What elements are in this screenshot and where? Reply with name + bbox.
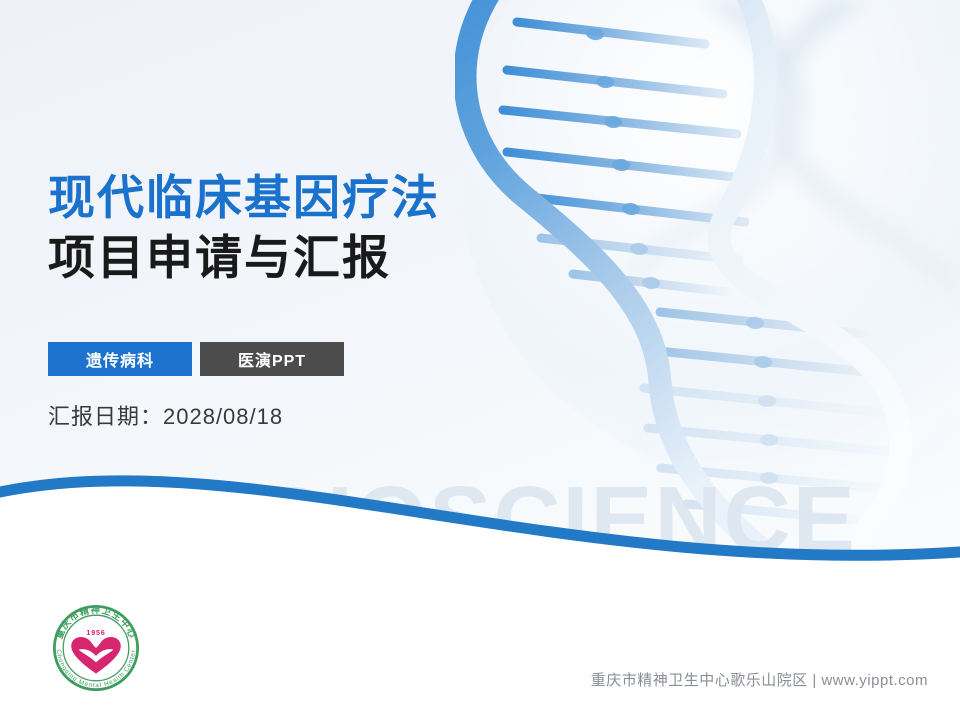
presentation-slide: BIOSCIENCE 现代临床基因疗法 项目申请与汇报 遗传病科 医演PPT 汇…: [0, 0, 960, 720]
tag-group: 遗传病科 医演PPT: [48, 342, 344, 376]
logo-year: 1956: [86, 628, 105, 637]
title-line-1: 现代临床基因疗法: [48, 168, 440, 228]
title-line-2: 项目申请与汇报: [48, 228, 440, 288]
report-date: 汇报日期：2028/08/18: [48, 399, 283, 431]
slide-title-block: 现代临床基因疗法 项目申请与汇报: [48, 168, 440, 288]
tag-template[interactable]: 医演PPT: [200, 342, 344, 376]
hospital-logo: 重庆市精神卫生中心 Chongqing Mental Health Center…: [48, 600, 144, 696]
tag-department[interactable]: 遗传病科: [48, 342, 192, 376]
footer-institution-text: 重庆市精神卫生中心歌乐山院区 | www.yippt.com: [591, 669, 928, 690]
